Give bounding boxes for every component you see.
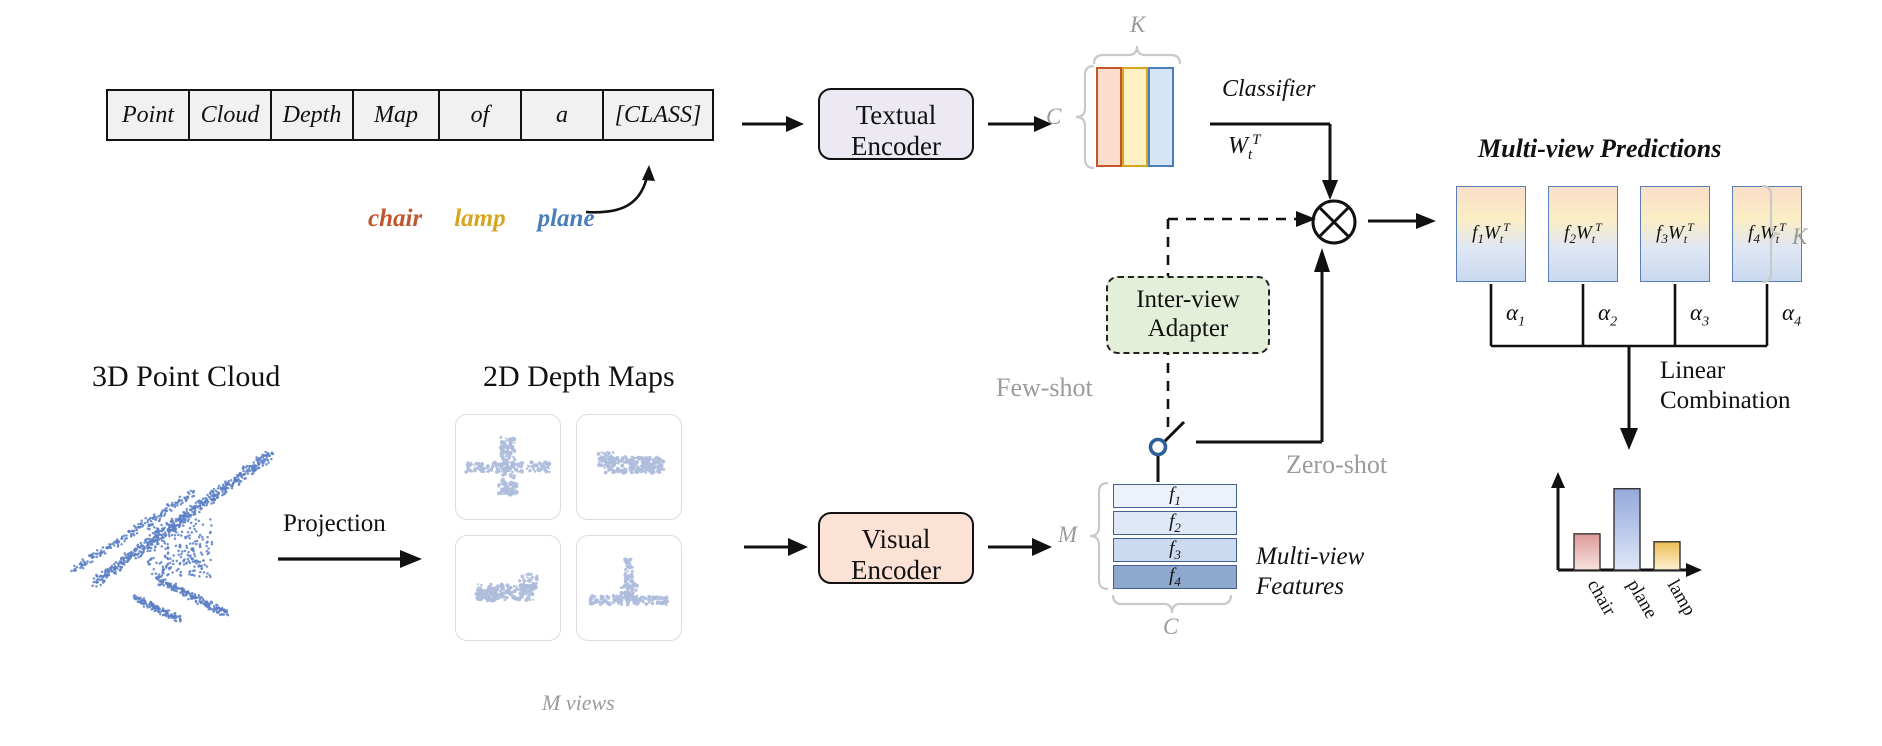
feature-bar-label: f1: [1169, 484, 1181, 509]
few-shot-label: Few-shot: [996, 373, 1093, 403]
multi-view-feature-stack: f1f2f3f4: [1113, 484, 1237, 589]
prediction-box-2: f2WtT: [1548, 186, 1618, 282]
features-caption-line1: Multi-view: [1256, 542, 1364, 572]
features-caption-line2: Features: [1256, 572, 1364, 602]
arrow-projection: [278, 547, 428, 573]
arrow-operator-to-predictions: [1368, 210, 1444, 234]
textual-encoder-box: Textual Encoder: [818, 88, 974, 160]
alpha-weight-2: α2: [1598, 300, 1617, 331]
feature-bar-f1: f1: [1113, 484, 1237, 508]
prompt-token-a[interactable]: a: [522, 91, 604, 139]
class-word-lamp[interactable]: lamp: [454, 205, 505, 233]
feature-bar-f3: f3: [1113, 538, 1237, 562]
features-dim-m-label: M: [1058, 522, 1077, 548]
classifier-column-2: [1148, 67, 1174, 167]
arrow-visual-encoder-to-features: [988, 535, 1056, 561]
prediction-box-label: f3WtT: [1656, 220, 1694, 247]
linear-combination-line1: Linear: [1660, 356, 1791, 386]
depth-map-card-side-view-left[interactable]: [576, 414, 682, 520]
feature-bar-label: f2: [1169, 511, 1181, 536]
prediction-box-label: f1WtT: [1472, 220, 1510, 247]
classifier-name-label: Classifier: [1222, 76, 1315, 103]
projection-label: Projection: [283, 510, 386, 538]
visual-encoder-box: Visual Encoder: [818, 512, 974, 584]
feature-bar-label: f4: [1169, 565, 1181, 590]
prediction-box-1: f1WtT: [1456, 186, 1526, 282]
visual-encoder-line1: Visual: [820, 524, 972, 555]
predictions-dim-k-label: K: [1792, 224, 1807, 250]
zero-shot-label: Zero-shot: [1286, 450, 1387, 480]
depth-map-card-front-view[interactable]: [576, 535, 682, 641]
multi-view-features-caption: Multi-view Features: [1256, 542, 1364, 602]
class-word-chair[interactable]: chair: [368, 205, 422, 233]
classifier-k-brace: [1092, 42, 1182, 66]
depth-map-grid: [455, 414, 682, 641]
predictions-k-brace: [1760, 184, 1784, 286]
depth-maps-title: 2D Depth Maps: [483, 360, 675, 394]
alpha-weight-4: α4: [1782, 300, 1801, 331]
final-prediction-bar-chart: chairplanelamp: [1540, 458, 1700, 578]
arrow-classifier-to-operator: [1210, 120, 1350, 210]
features-m-brace: [1086, 481, 1110, 593]
bar-label-lamp: lamp: [1663, 576, 1700, 619]
depth-maps-caption: M views: [542, 690, 615, 716]
textual-encoder-line1: Textual: [820, 100, 972, 131]
linear-combination-caption: Linear Combination: [1660, 356, 1791, 416]
arrow-prompt-to-textual-encoder: [742, 113, 808, 137]
bar-label-plane: plane: [1623, 576, 1662, 622]
prompt-token-depth[interactable]: Depth: [272, 91, 354, 139]
alpha-weight-1: α1: [1506, 300, 1525, 331]
prompt-token-cloud[interactable]: Cloud: [190, 91, 272, 139]
textual-encoder-line2: Encoder: [820, 131, 972, 162]
class-word-list: chairlampplane: [368, 205, 595, 233]
feature-bar-f4: f4: [1113, 565, 1237, 589]
prediction-box-row: f1WtTf2WtTf3WtTf4WtT: [1456, 186, 1802, 282]
class-to-slot-arrow: [580, 150, 690, 230]
multi-view-predictions-title: Multi-view Predictions: [1478, 134, 1721, 164]
feature-bar-f2: f2: [1113, 511, 1237, 535]
linear-combination-line2: Combination: [1660, 386, 1791, 416]
zero-shot-path: [1196, 244, 1346, 454]
depth-map-card-top-view[interactable]: [455, 414, 561, 520]
point-cloud-title: 3D Point Cloud: [92, 360, 280, 394]
classifier-dim-k-label: K: [1130, 12, 1145, 38]
classifier-dim-c-label: C: [1046, 104, 1061, 130]
feature-bar-label: f3: [1169, 538, 1181, 563]
classifier-weight-matrix: [1096, 67, 1174, 167]
classifier-column-0: [1096, 67, 1122, 167]
classifier-column-1: [1122, 67, 1148, 167]
prompt-token-map[interactable]: Map: [354, 91, 440, 139]
classifier-c-brace: [1072, 64, 1096, 170]
arrow-depth-maps-to-visual-encoder: [744, 535, 812, 561]
visual-encoder-line2: Encoder: [820, 555, 972, 586]
prompt-token-point[interactable]: Point: [108, 91, 190, 139]
mode-switch-toggle[interactable]: [1140, 416, 1196, 488]
features-dim-c-label: C: [1163, 614, 1178, 640]
bar-label-chair: chair: [1583, 576, 1621, 620]
depth-map-card-side-view-right[interactable]: [455, 535, 561, 641]
point-cloud-visual: [60, 430, 300, 620]
prediction-box-3: f3WtT: [1640, 186, 1710, 282]
prediction-box-label: f2WtT: [1564, 220, 1602, 247]
prompt-template: PointCloudDepthMapofa[CLASS]: [106, 89, 714, 141]
prompt-token-class[interactable]: [CLASS]: [604, 91, 712, 139]
alpha-weight-3: α3: [1690, 300, 1709, 331]
prompt-token-of[interactable]: of: [440, 91, 522, 139]
